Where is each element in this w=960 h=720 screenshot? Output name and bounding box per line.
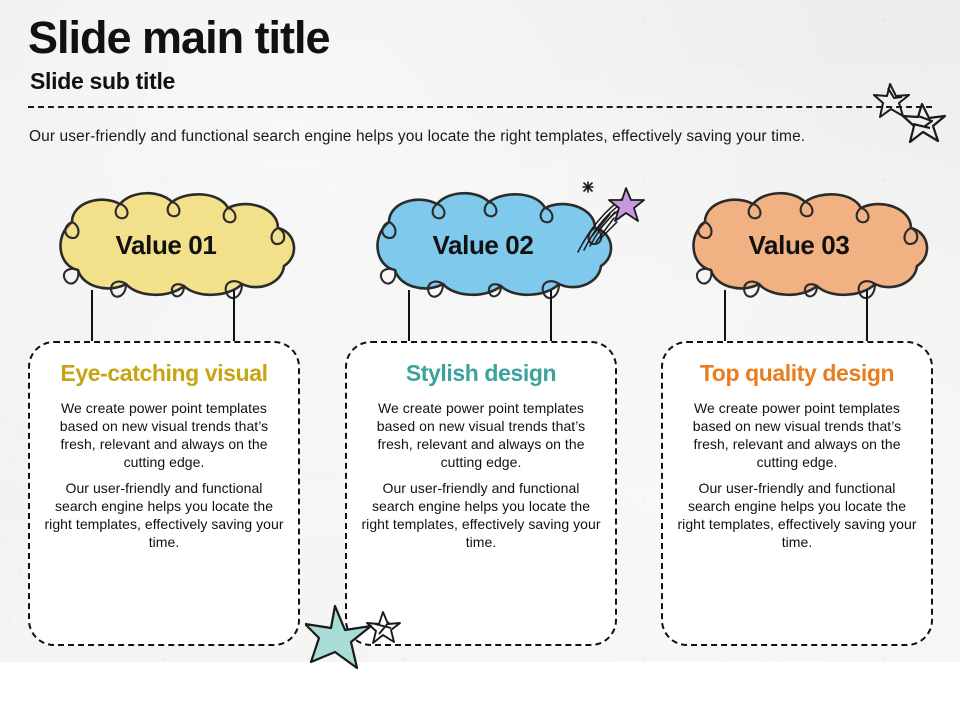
page-subtitle: Slide sub title (30, 68, 175, 95)
value-column: Value 01 Eye-catching visual We create p… (20, 186, 312, 656)
shooting-star-icon (570, 178, 648, 261)
value-card[interactable]: Stylish design We create power point tem… (345, 341, 617, 646)
page-title: Slide main title (28, 14, 330, 61)
card-paragraph-2: Our user-friendly and functional search … (44, 480, 284, 552)
value-column: Value 03 Top quality design We create po… (653, 186, 945, 656)
cloud-fill (694, 193, 928, 295)
value-card[interactable]: Top quality design We create power point… (661, 341, 933, 646)
card-heading: Stylish design (361, 361, 601, 386)
connector-line-right (550, 290, 552, 346)
connector-line-right (866, 290, 868, 346)
header-divider (28, 106, 932, 108)
connector-line-left (408, 290, 410, 346)
connector-line-right (233, 290, 235, 346)
star-outline-icon (872, 78, 952, 153)
star-filled-icon (609, 188, 644, 221)
slide-canvas: Slide main title Slide sub title Our use… (0, 0, 960, 720)
star-filled-icon (305, 604, 405, 679)
connector-line-left (91, 290, 93, 346)
lead-paragraph: Our user-friendly and functional search … (29, 128, 929, 146)
value-card[interactable]: Eye-catching visual We create power poin… (28, 341, 300, 646)
card-heading: Eye-catching visual (44, 361, 284, 386)
card-paragraph-2: Our user-friendly and functional search … (361, 480, 601, 552)
card-paragraph-1: We create power point templates based on… (44, 400, 284, 472)
cloud-shape (20, 186, 312, 326)
card-heading: Top quality design (677, 361, 917, 386)
cloud-fill (61, 193, 295, 295)
card-paragraph-1: We create power point templates based on… (361, 400, 601, 472)
connector-line-left (724, 290, 726, 346)
cloud-shape (653, 186, 945, 326)
card-paragraph-1: We create power point templates based on… (677, 400, 917, 472)
card-paragraph-2: Our user-friendly and functional search … (677, 480, 917, 552)
